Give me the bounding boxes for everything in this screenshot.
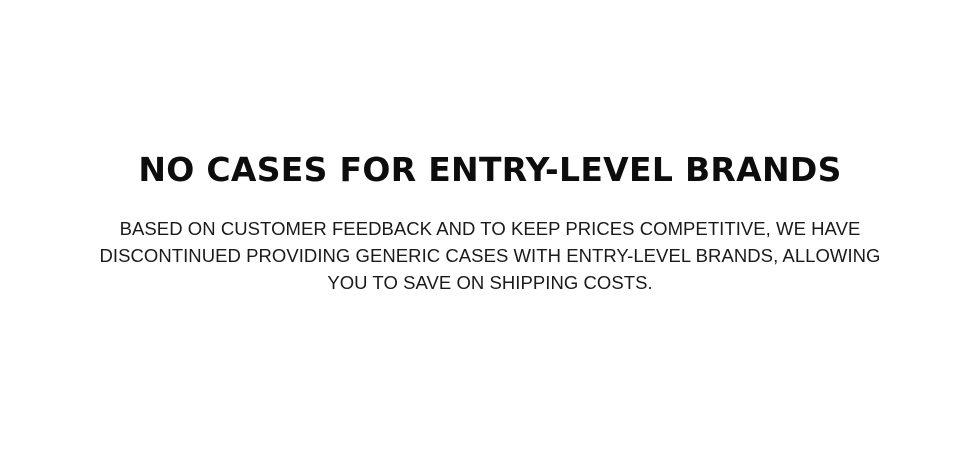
banner-description-line-3: YOU TO SAVE ON SHIPPING COSTS. <box>60 269 920 296</box>
banner-description-line-2: DISCONTINUED PROVIDING GENERIC CASES WIT… <box>60 242 920 269</box>
banner-description: BASED ON CUSTOMER FEEDBACK AND TO KEEP P… <box>60 190 920 296</box>
banner-content: NO CASES FOR ENTRY-LEVEL BRANDS BASED ON… <box>60 150 920 296</box>
policy-notice-banner: NO CASES FOR ENTRY-LEVEL BRANDS BASED ON… <box>0 0 980 450</box>
banner-description-line-1: BASED ON CUSTOMER FEEDBACK AND TO KEEP P… <box>60 215 920 242</box>
banner-heading: NO CASES FOR ENTRY-LEVEL BRANDS <box>60 150 920 190</box>
